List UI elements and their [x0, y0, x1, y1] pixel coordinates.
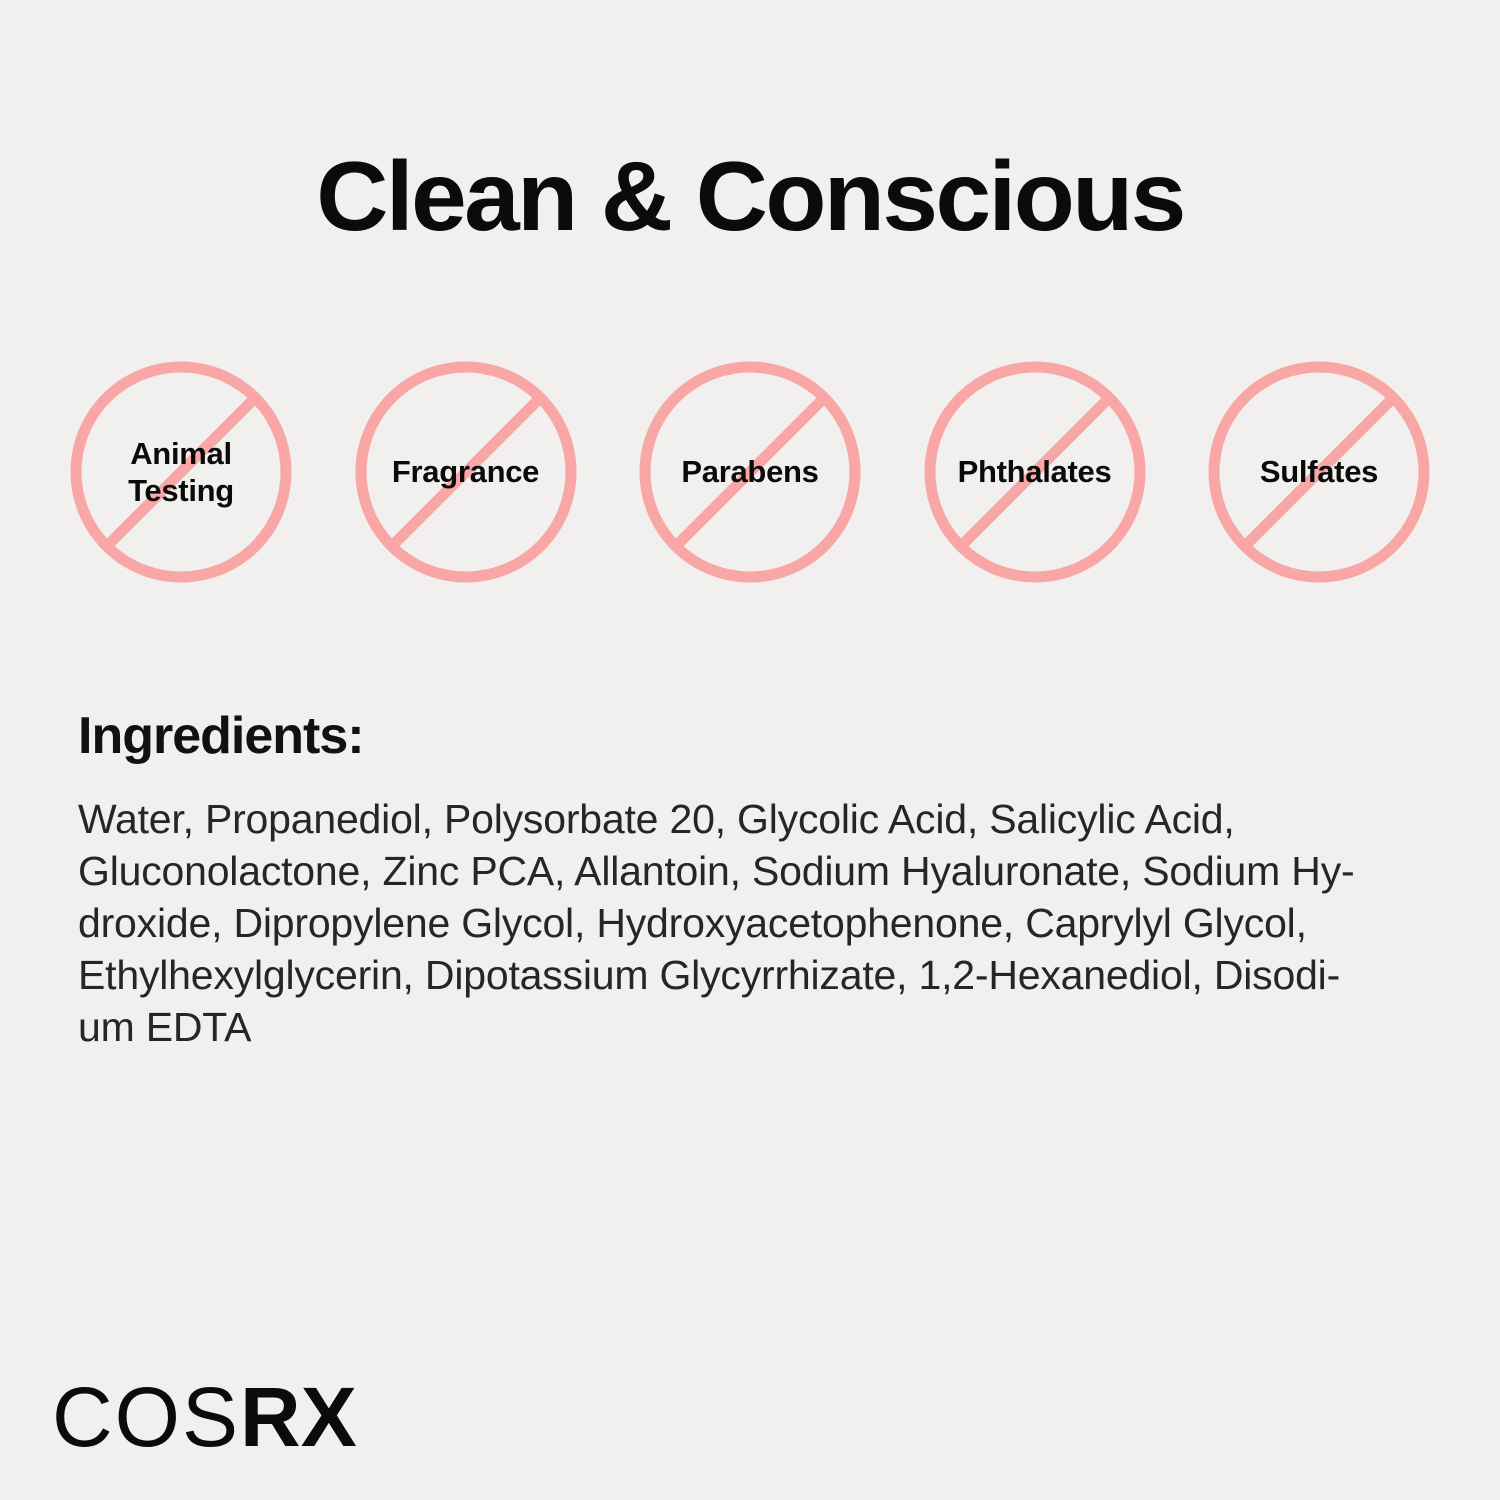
badge-phthalates: Phthalates [924, 361, 1146, 583]
badge-parabens: Parabens [639, 361, 861, 583]
brand-logo-part-one: COS [52, 1370, 240, 1464]
ingredients-line: um EDTA [78, 1001, 1448, 1053]
ingredients-heading: Ingredients: [78, 709, 364, 764]
badge-sulfates: Sulfates [1208, 361, 1430, 583]
ingredients-line: droxide, Dipropylene Glycol, Hydroxyacet… [78, 897, 1448, 949]
ingredients-list: Water, Propanediol, Polysorbate 20, Glyc… [78, 793, 1448, 1053]
ingredients-line: Ethylhexylglycerin, Dipotassium Glycyrrh… [78, 949, 1448, 1001]
ingredients-line: Water, Propanediol, Polysorbate 20, Glyc… [78, 793, 1448, 845]
badge-fragrance: Fragrance [355, 361, 577, 583]
badge-animal-testing: Animal Testing [70, 361, 292, 583]
badge-label: Phthalates [924, 453, 1146, 490]
badge-label: Sulfates [1208, 453, 1430, 490]
badge-label: Animal Testing [70, 435, 292, 509]
clean-conscious-panel: Clean & Conscious Animal Testing Fragran… [0, 0, 1500, 1500]
ingredients-line: Gluconolactone, Zinc PCA, Allantoin, Sod… [78, 845, 1448, 897]
badge-label: Fragrance [355, 453, 577, 490]
brand-logo-part-two: RX [240, 1370, 357, 1464]
brand-logo: COSRX [52, 1375, 357, 1459]
page-title: Clean & Conscious [0, 147, 1500, 245]
free-from-badge-row: Animal Testing Fragrance Parabens Phthal… [70, 358, 1430, 586]
badge-label: Parabens [639, 453, 861, 490]
